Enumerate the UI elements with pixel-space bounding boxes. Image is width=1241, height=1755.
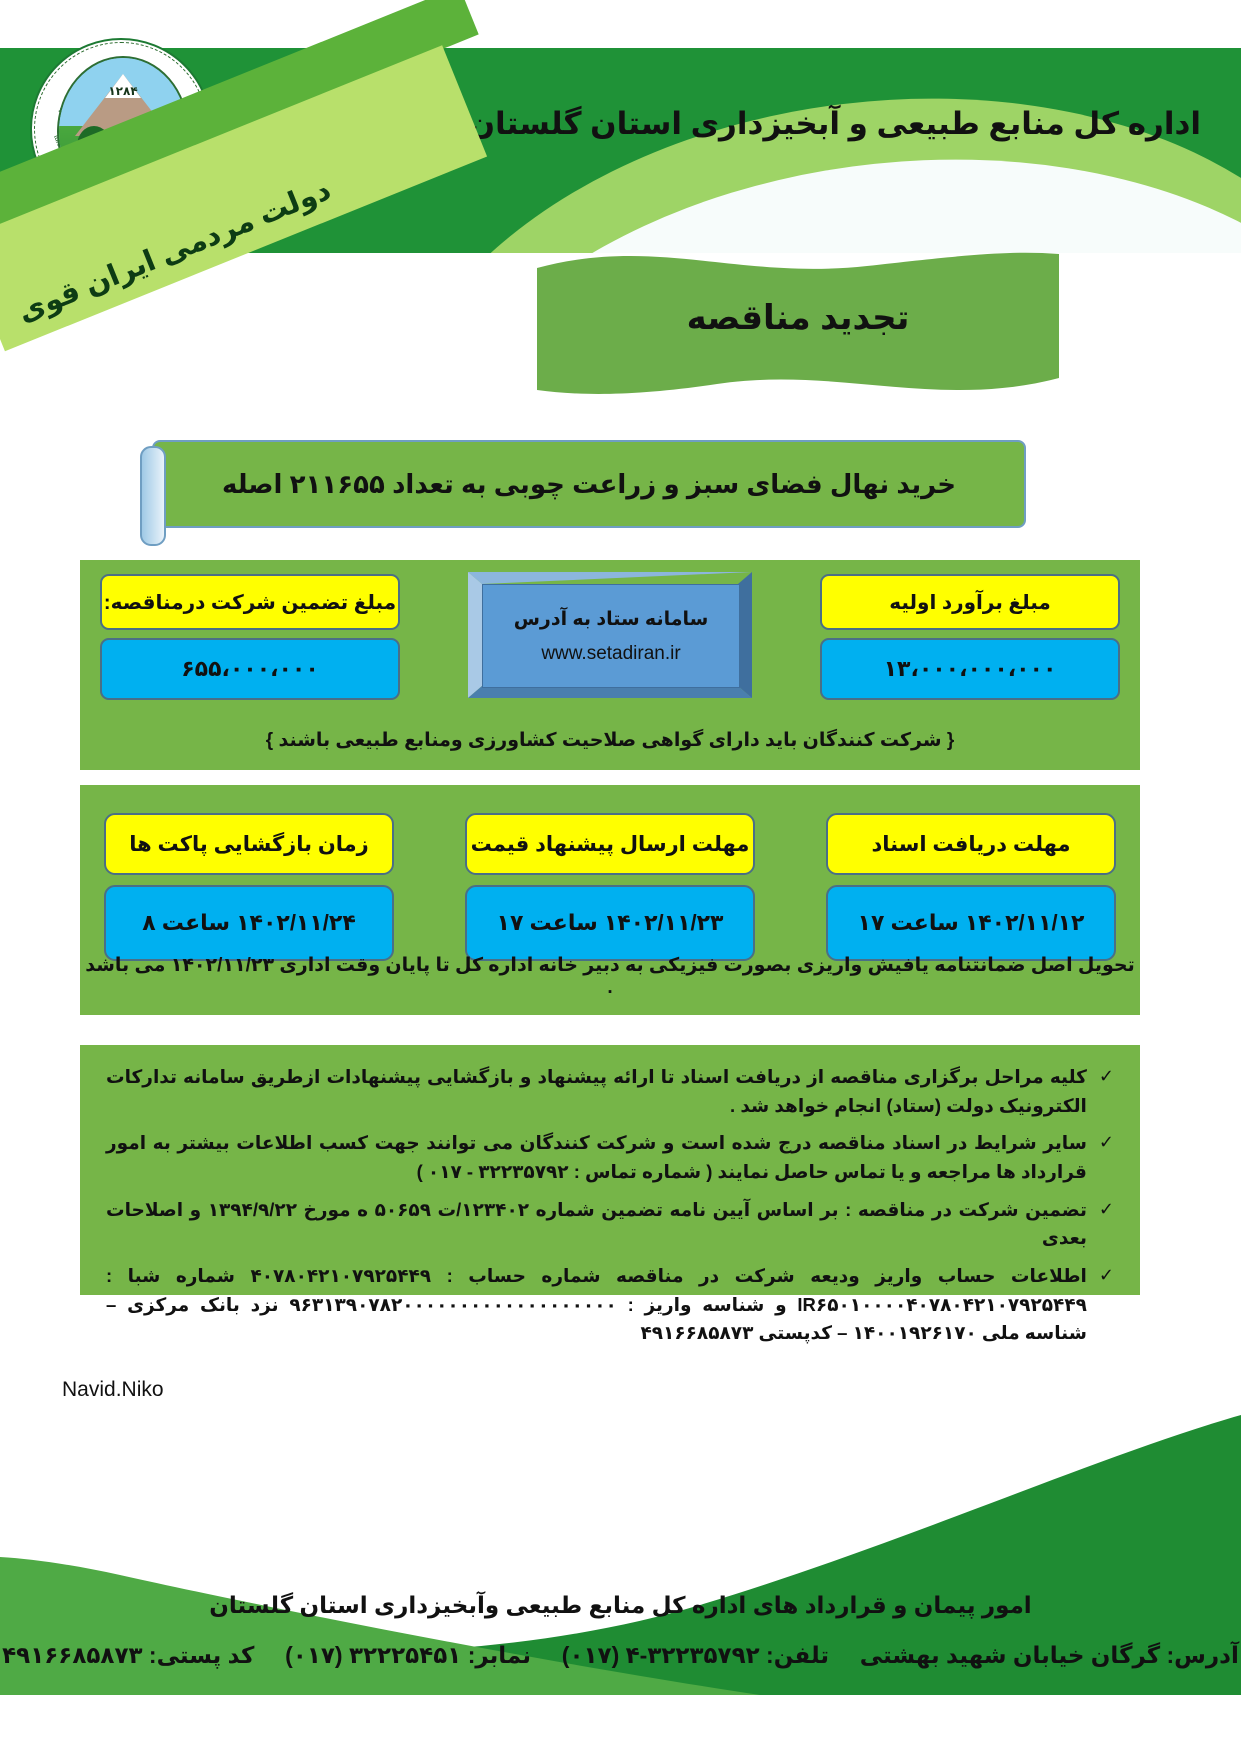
logo-year-persian: ۱۲۸۴ bbox=[59, 84, 187, 98]
setad-face: سامانه ستاد به آدرس www.setadiran.ir bbox=[482, 584, 740, 688]
footer-fax-label: نمابر: bbox=[468, 1642, 531, 1668]
deadlines-section: مهلت دریافت اسناد ۱۴۰۲/۱۱/۱۲ ساعت ۱۷ مهل… bbox=[80, 785, 1140, 1015]
certificate-requirement-note: { شرکت کنندگان باید دارای گواهی صلاحیت ک… bbox=[80, 710, 1140, 770]
check-icon: ✓ bbox=[1099, 1129, 1114, 1156]
footer-phone-label: تلفن: bbox=[766, 1642, 829, 1668]
guarantee-delivery-note: تحویل اصل ضمانتنامه یافیش واریزی بصورت ف… bbox=[80, 954, 1140, 999]
footer-fax-value: ۳۲۲۲۵۴۵۱ (۰۱۷) bbox=[285, 1642, 461, 1668]
deadline-value-documents: ۱۴۰۲/۱۱/۱۲ ساعت ۱۷ bbox=[826, 885, 1116, 961]
estimate-amount-block: مبلغ برآورد اولیه ۱۳،۰۰۰،۰۰۰،۰۰۰ bbox=[820, 574, 1120, 700]
deadline-label-bid: مهلت ارسال پیشنهاد قیمت bbox=[465, 813, 755, 875]
check-icon: ✓ bbox=[1099, 1063, 1114, 1090]
setad-bevel-top bbox=[468, 572, 752, 584]
condition-text-3: تضمین شرکت در مناقصه : بر اساس آیین نامه… bbox=[106, 1196, 1087, 1253]
setad-bevel-right bbox=[738, 572, 752, 698]
footer-department: امور پیمان و قرارداد های اداره کل منابع … bbox=[0, 1592, 1241, 1619]
estimate-amount-value: ۱۳،۰۰۰،۰۰۰،۰۰۰ bbox=[820, 638, 1120, 700]
deadline-value-opening: ۱۴۰۲/۱۱/۲۴ ساعت ۸ bbox=[104, 885, 394, 961]
setad-label: سامانه ستاد به آدرس bbox=[514, 608, 709, 631]
deadline-label-opening: زمان بازگشایی پاکت ها bbox=[104, 813, 394, 875]
check-icon: ✓ bbox=[1099, 1196, 1114, 1223]
list-item: ✓ تضمین شرکت در مناقصه : بر اساس آیین نا… bbox=[106, 1196, 1114, 1253]
tender-title-ribbon: تجدید مناقصه bbox=[537, 250, 1059, 398]
setad-system-box[interactable]: سامانه ستاد به آدرس www.setadiran.ir bbox=[468, 572, 752, 698]
condition-text-1: کلیه مراحل برگزاری مناقصه از دریافت اسنا… bbox=[106, 1063, 1087, 1120]
setad-url[interactable]: www.setadiran.ir bbox=[541, 643, 680, 665]
check-icon: ✓ bbox=[1099, 1262, 1114, 1289]
guarantee-amount-label: مبلغ تضمین شرکت درمناقصه: bbox=[100, 574, 400, 630]
footer-address-label: آدرس: bbox=[1167, 1642, 1239, 1668]
footer-postal-label: کد پستی: bbox=[149, 1642, 254, 1668]
estimate-amount-label: مبلغ برآورد اولیه bbox=[820, 574, 1120, 630]
tender-subject-text: خرید نهال فضای سبز و زراعت چوبی به تعداد… bbox=[222, 469, 956, 500]
footer-contact: آدرس: گرگان خیابان شهید بهشتی تلفن: ۳۲۲۳… bbox=[0, 1642, 1241, 1669]
tender-title-text: تجدید مناقصه bbox=[537, 298, 1059, 338]
conditions-section: ✓ کلیه مراحل برگزاری مناقصه از دریافت اس… bbox=[80, 1045, 1140, 1295]
deadline-block-opening: زمان بازگشایی پاکت ها ۱۴۰۲/۱۱/۲۴ ساعت ۸ bbox=[104, 813, 394, 961]
deadline-value-bid: ۱۴۰۲/۱۱/۲۳ ساعت ۱۷ bbox=[465, 885, 755, 961]
poster-page: اداره کل منابع طبیعی و آبخیزداری استان گ… bbox=[0, 0, 1241, 1755]
organization-title: اداره کل منابع طبیعی و آبخیزداری استان گ… bbox=[469, 106, 1201, 142]
condition-text-4: اطلاعات حساب واریز ودیعه شرکت در مناقصه … bbox=[106, 1262, 1087, 1348]
list-item: ✓ اطلاعات حساب واریز ودیعه شرکت در مناقص… bbox=[106, 1262, 1114, 1348]
condition-text-2: سایر شرایط در اسناد مناقصه درج شده است و… bbox=[106, 1129, 1087, 1186]
setad-bevel-left bbox=[468, 572, 482, 698]
tender-subject: خرید نهال فضای سبز و زراعت چوبی به تعداد… bbox=[140, 440, 1022, 538]
list-item: ✓ سایر شرایط در اسناد مناقصه درج شده است… bbox=[106, 1129, 1114, 1186]
guarantee-amount-block: مبلغ تضمین شرکت درمناقصه: ۶۵۵،۰۰۰،۰۰۰ bbox=[100, 574, 400, 700]
deadline-block-documents: مهلت دریافت اسناد ۱۴۰۲/۱۱/۱۲ ساعت ۱۷ bbox=[826, 813, 1116, 961]
tender-subject-bar: خرید نهال فضای سبز و زراعت چوبی به تعداد… bbox=[152, 440, 1026, 528]
list-item: ✓ کلیه مراحل برگزاری مناقصه از دریافت اس… bbox=[106, 1063, 1114, 1120]
subject-scroll-curl bbox=[140, 446, 166, 546]
deadline-block-bid: مهلت ارسال پیشنهاد قیمت ۱۴۰۲/۱۱/۲۳ ساعت … bbox=[465, 813, 755, 961]
guarantee-amount-value: ۶۵۵،۰۰۰،۰۰۰ bbox=[100, 638, 400, 700]
amounts-section: مبلغ برآورد اولیه ۱۳،۰۰۰،۰۰۰،۰۰۰ سامانه … bbox=[80, 560, 1140, 710]
footer-phone-value: ۳۲۲۳۵۷۹۲-۴ (۰۱۷) bbox=[562, 1642, 760, 1668]
deadline-label-documents: مهلت دریافت اسناد bbox=[826, 813, 1116, 875]
footer-address-value: گرگان خیابان شهید بهشتی bbox=[860, 1642, 1160, 1668]
footer-band: امور پیمان و قرارداد های اداره کل منابع … bbox=[0, 1415, 1241, 1695]
author-signature: Navid.Niko bbox=[62, 1378, 164, 1402]
footer-postal-value: ۴۹۱۶۶۸۵۸۷۳ bbox=[2, 1642, 142, 1668]
